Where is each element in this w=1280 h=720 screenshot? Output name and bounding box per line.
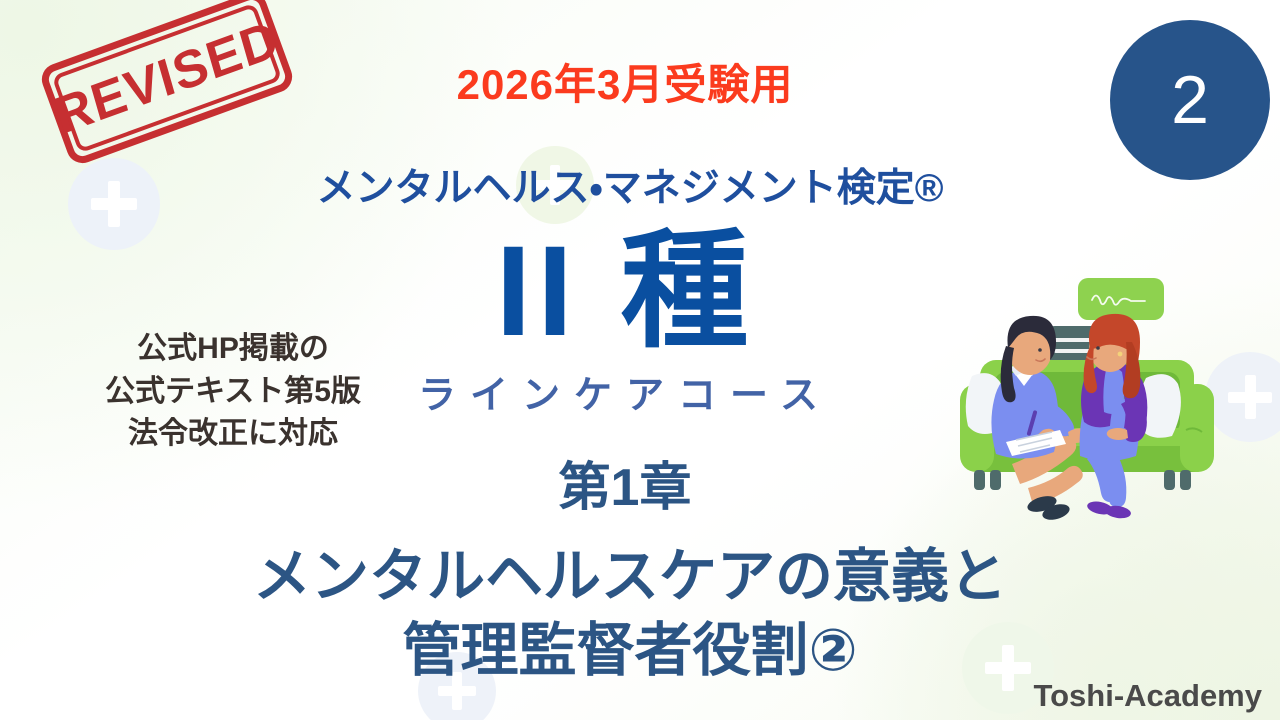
brand-name: Toshi-Academy: [1033, 678, 1262, 714]
certification-name: メンタルヘルス・マネジメント検定®: [0, 168, 1260, 211]
counseling-session-illustration: [950, 250, 1260, 540]
textbook-note-block: 公式HP掲載の 公式テキスト第5版 法令改正に対応: [88, 328, 378, 456]
note-line-2: 公式テキスト第5版: [88, 371, 378, 414]
note-line-1: 公式HP掲載の: [88, 328, 378, 371]
note-line-3: 法令改正に対応: [88, 413, 378, 456]
slide-canvas: REVISED 2 2026年3月受験用 メンタルヘルス・マネジメント検定® I…: [0, 0, 1280, 720]
chapter-title: メンタルヘルスケアの意義と 管理監督者役割②: [0, 540, 1260, 688]
exam-date-label: 2026年3月受験用: [0, 62, 1250, 108]
client-figure: [1080, 314, 1148, 520]
chapter-title-line-1: メンタルヘルスケアの意義と: [0, 540, 1260, 614]
